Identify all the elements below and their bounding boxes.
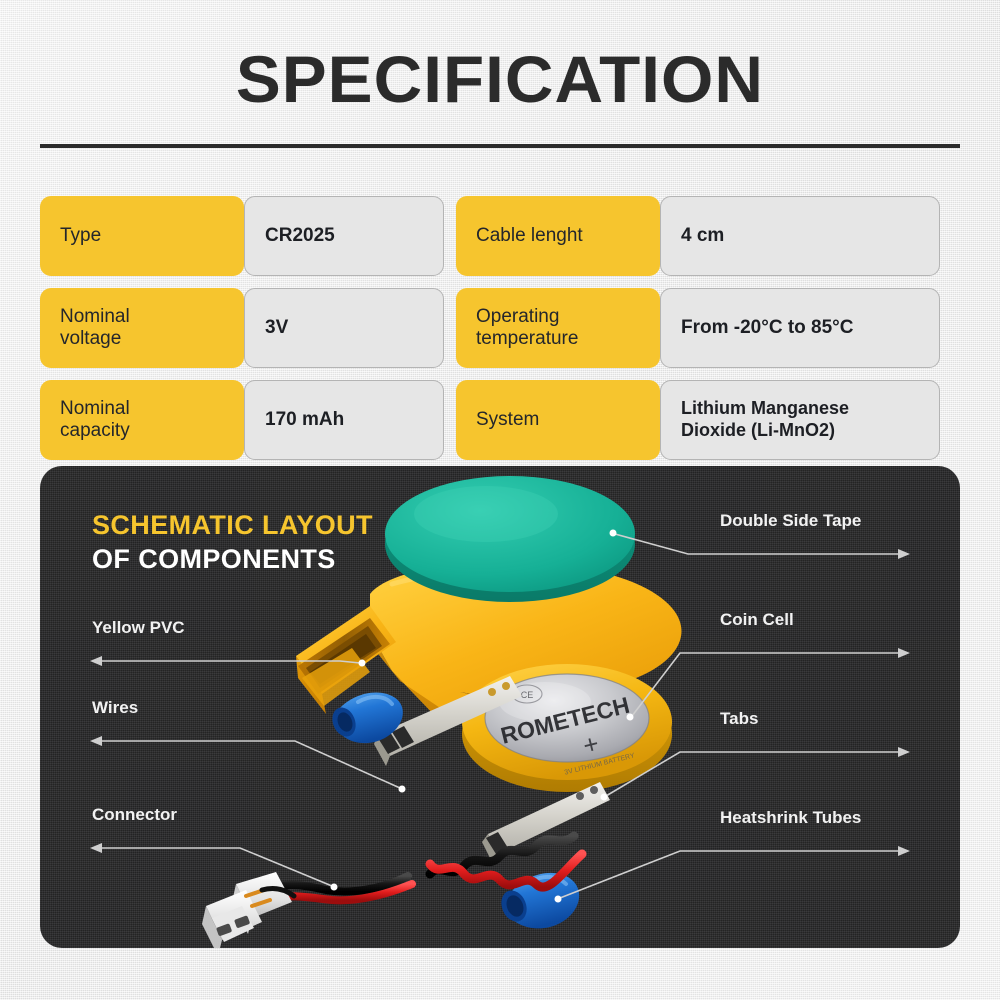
spec-value-cable-lenght: 4 cm [660, 196, 940, 276]
spec-value-text: 3V [265, 317, 288, 340]
spec-label-text: Nominalcapacity [60, 398, 130, 443]
schematic-panel: SCHEMATIC LAYOUT OF COMPONENTS [40, 466, 960, 948]
spec-label-system: System [456, 380, 660, 460]
callout-label-heatshrink-tubes: Heatshrink Tubes [720, 808, 861, 828]
spec-label-nominal-capacity: Nominalcapacity [40, 380, 244, 460]
spec-label-text: Nominalvoltage [60, 306, 130, 351]
spec-value-type: CR2025 [244, 196, 444, 276]
spec-value-text: 4 cm [681, 225, 724, 248]
column-gap [444, 380, 456, 460]
spec-label-text: Cable lenght [476, 225, 583, 247]
callout-label-connector: Connector [92, 805, 177, 825]
spec-value-text: From -20°C to 85°C [681, 317, 854, 340]
callout-label-yellow-pvc: Yellow PVC [92, 618, 185, 638]
spec-label-text: Operatingtemperature [476, 306, 578, 351]
spec-label-operating-temperature: Operatingtemperature [456, 288, 660, 368]
callout-label-coin-cell: Coin Cell [720, 610, 794, 630]
spec-value-text: Lithium ManganeseDioxide (Li-MnO2) [681, 398, 849, 441]
spec-value-nominal-voltage: 3V [244, 288, 444, 368]
callout-leader-lines [40, 466, 960, 948]
callout-label-wires: Wires [92, 698, 138, 718]
spec-value-text: 170 mAh [265, 409, 344, 432]
title-divider [40, 144, 960, 148]
page-title-container: SPECIFICATION [0, 46, 1000, 112]
spec-label-nominal-voltage: Nominalvoltage [40, 288, 244, 368]
spec-value-text: CR2025 [265, 225, 335, 248]
column-gap [444, 196, 456, 276]
spec-label-text: Type [60, 225, 101, 247]
spec-value-system: Lithium ManganeseDioxide (Li-MnO2) [660, 380, 940, 460]
callout-label-double-side-tape: Double Side Tape [720, 511, 861, 531]
page-title: SPECIFICATION [236, 46, 764, 112]
specification-table: Type CR2025 Cable lenght 4 cm Nominalvol… [40, 196, 960, 460]
spec-value-nominal-capacity: 170 mAh [244, 380, 444, 460]
spec-label-type: Type [40, 196, 244, 276]
spec-label-text: System [476, 409, 539, 431]
spec-value-operating-temperature: From -20°C to 85°C [660, 288, 940, 368]
spec-label-cable-lenght: Cable lenght [456, 196, 660, 276]
column-gap [444, 288, 456, 368]
callout-label-tabs: Tabs [720, 709, 758, 729]
